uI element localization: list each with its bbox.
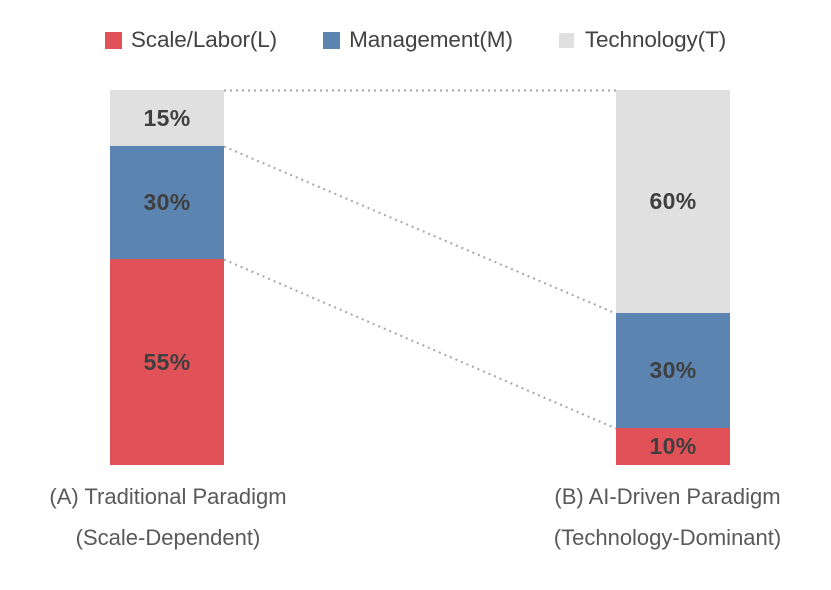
connector-middle-line: [224, 147, 616, 314]
plot-area: 15% 30% 55% 60% 30% 10%: [0, 0, 831, 590]
category-caption-traditional: (A) Traditional Paradigm (Scale-Dependen…: [6, 476, 330, 558]
category-caption-ai-driven: (B) AI-Driven Paradigm (Technology-Domin…: [504, 476, 831, 558]
bar-a-value-management: 30%: [144, 189, 191, 216]
caption-ai-driven-line2: (Technology-Dominant): [504, 517, 831, 558]
caption-traditional-line2: (Scale-Dependent): [6, 517, 330, 558]
bar-a-segment-technology[interactable]: 15%: [110, 90, 224, 146]
connector-bottom-line: [224, 260, 616, 429]
bar-a-segment-management[interactable]: 30%: [110, 146, 224, 259]
bar-a-segment-scale-labor[interactable]: 55%: [110, 259, 224, 465]
bar-traditional-paradigm: 15% 30% 55%: [110, 90, 224, 465]
caption-ai-driven-line1: (B) AI-Driven Paradigm: [504, 476, 831, 517]
caption-traditional-line1: (A) Traditional Paradigm: [6, 476, 330, 517]
bar-b-segment-scale-labor[interactable]: 10%: [616, 428, 730, 465]
bar-b-segment-technology[interactable]: 60%: [616, 90, 730, 313]
bar-ai-driven-paradigm: 60% 30% 10%: [616, 90, 730, 465]
bar-b-segment-management[interactable]: 30%: [616, 313, 730, 428]
bar-a-value-technology: 15%: [144, 105, 191, 132]
bar-a-value-scale-labor: 55%: [144, 349, 191, 376]
stacked-bar-chart: Scale/Labor(L) Management(M) Technology(…: [0, 0, 831, 590]
bar-b-value-scale-labor: 10%: [650, 433, 697, 460]
bar-b-value-management: 30%: [650, 357, 697, 384]
bar-b-value-technology: 60%: [650, 188, 697, 215]
